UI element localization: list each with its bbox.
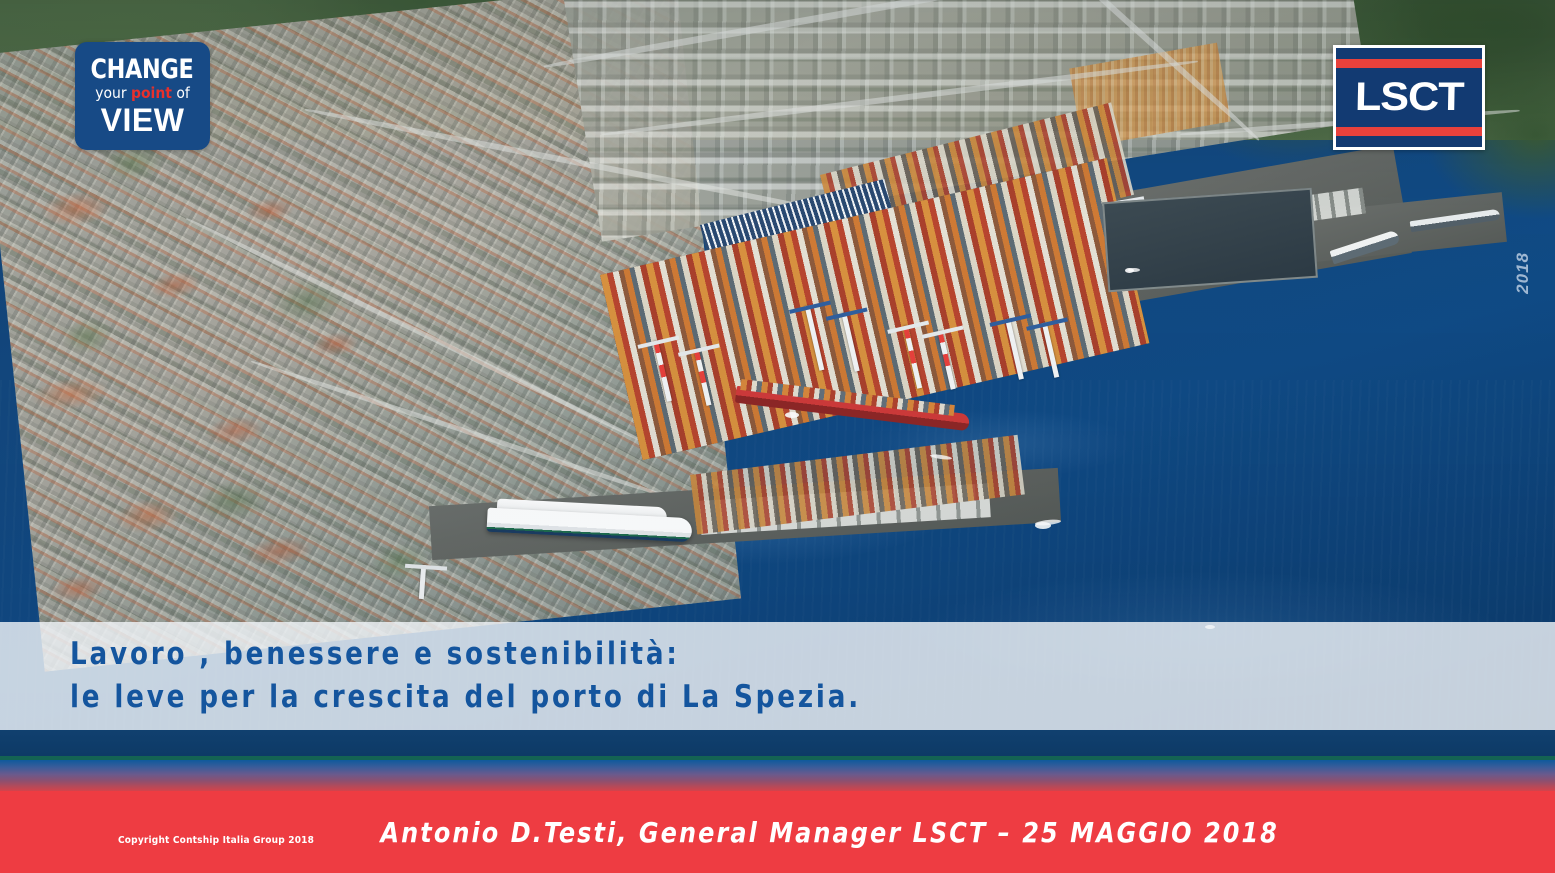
logo-line-change: CHANGE [91,56,194,83]
year-watermark: 2018 [1513,252,1533,294]
change-your-point-of-view-logo: CHANGE your point of VIEW [75,42,210,150]
lsct-logo: LSCT [1333,45,1485,150]
band-blue-to-red-gradient [0,760,1555,792]
speaker-and-date-line: Antonio D.Testi, General Manager LSCT – … [39,791,1516,873]
lsct-wordmark: LSCT [1354,75,1463,120]
band-sea-strip [0,730,1555,756]
lsct-stripe-bottom [1336,127,1482,136]
title-band: Lavoro , benessere e sostenibilità: le l… [0,622,1555,730]
footer-banner: Antonio D.Testi, General Manager LSCT – … [0,791,1555,873]
copyright-notice: Copyright Contship Italia Group 2018 [118,835,314,846]
slide-title-line-2: le leve per la crescita del porto di La … [70,676,1466,719]
logo-word-of: of [172,84,190,102]
logo-word-your: your [95,84,131,102]
logo-line-view: VIEW [101,104,185,136]
lsct-logo-field: LSCT [1336,48,1482,147]
logo-word-point: point [131,84,172,102]
presentation-slide: CHANGE your point of VIEW LSCT 2018 Lavo… [0,0,1555,873]
logo-line-your-point-of: your point of [95,83,190,104]
lsct-stripe-top [1336,59,1482,68]
slide-title-line-1: Lavoro , benessere e sostenibilità: [70,633,1466,676]
